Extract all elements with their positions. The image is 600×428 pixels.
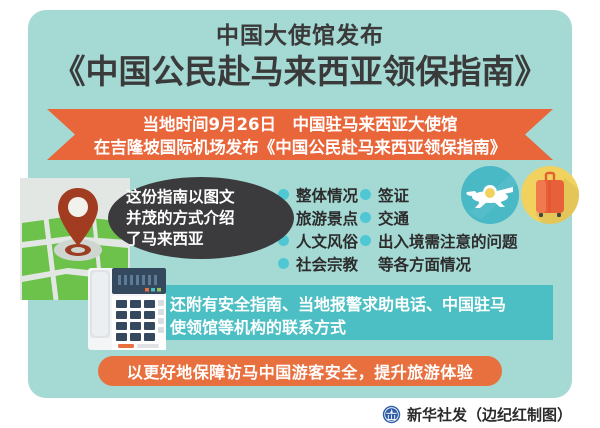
list-item: 人文风俗 <box>278 229 358 252</box>
page-title: 《中国公民赴马来西亚领保指南》 <box>0 52 600 92</box>
list-item-tail: 等各方面情况 <box>360 252 518 275</box>
header-subtitle: 中国大使馆发布 <box>0 22 600 50</box>
bullet-dot-icon <box>360 189 371 200</box>
ribbon-text: 当地时间9月26日 中国驻马来西亚大使馆 在吉隆坡国际机场发布《中国公民赴马来西… <box>47 112 553 160</box>
list-item-label: 签证 <box>378 184 409 206</box>
list-item-label: 等各方面情况 <box>378 253 471 275</box>
telephone-icon <box>88 258 166 350</box>
speech-bubble-text: 这份指南以图文 并茂的方式介绍 了马来西亚 <box>126 187 276 250</box>
topics-column-right: 签证 交通 出入境需注意的问题 等各方面情况 <box>360 183 518 275</box>
additional-info-box: 还附有安全指南、当地报警求助电话、中国驻马 使领馆等机构的联系方式 <box>150 285 553 340</box>
ribbon-line-2: 在吉隆坡国际机场发布《中国公民赴马来西亚领保指南》 <box>94 136 507 159</box>
infobox-line-2: 使领馆等机构的联系方式 <box>170 316 545 339</box>
bullet-dot-icon <box>278 258 289 269</box>
list-item: 社会宗教 <box>278 252 358 275</box>
summary-banner: 以更好地保障访马中国游客安全，提升旅游体验 <box>98 356 502 386</box>
list-item-label: 交通 <box>378 207 409 229</box>
bubble-line-2: 并茂的方式介绍 <box>126 208 276 229</box>
summary-banner-text: 以更好地保障访马中国游客安全，提升旅游体验 <box>127 359 474 383</box>
footer: 新华社发（边纪红制图） <box>0 401 600 427</box>
bubble-line-1: 这份指南以图文 <box>126 187 276 208</box>
bubble-line-3: 了马来西亚 <box>126 229 276 250</box>
list-item-label: 出入境需注意的问题 <box>378 230 518 252</box>
list-item-label: 整体情况 <box>296 184 358 206</box>
speech-bubble: 这份指南以图文 并茂的方式介绍 了马来西亚 <box>108 177 294 259</box>
list-item-label: 旅游景点 <box>296 207 358 229</box>
bullet-dot-icon <box>360 212 371 223</box>
list-item: 整体情况 <box>278 183 358 206</box>
footer-credit: 新华社发（边纪红制图） <box>407 404 572 425</box>
infobox-line-1: 还附有安全指南、当地报警求助电话、中国驻马 <box>170 293 545 316</box>
bullet-dot-icon <box>360 235 371 246</box>
list-item-label: 人文风俗 <box>296 230 358 252</box>
list-item-label: 社会宗教 <box>296 253 358 275</box>
list-item: 签证 <box>360 183 518 206</box>
list-item: 出入境需注意的问题 <box>360 229 518 252</box>
list-item: 交通 <box>360 206 518 229</box>
xinhua-logo-icon <box>382 405 401 424</box>
ribbon-line-1: 当地时间9月26日 中国驻马来西亚大使馆 <box>143 113 458 136</box>
infographic-poster: 中国大使馆发布 《中国公民赴马来西亚领保指南》 当地时间9月26日 中国驻马来西… <box>0 0 600 428</box>
additional-info-text: 还附有安全指南、当地报警求助电话、中国驻马 使领馆等机构的联系方式 <box>170 293 545 339</box>
topics-list: 整体情况 旅游景点 人文风俗 社会宗教 签证 交通 <box>278 183 578 283</box>
